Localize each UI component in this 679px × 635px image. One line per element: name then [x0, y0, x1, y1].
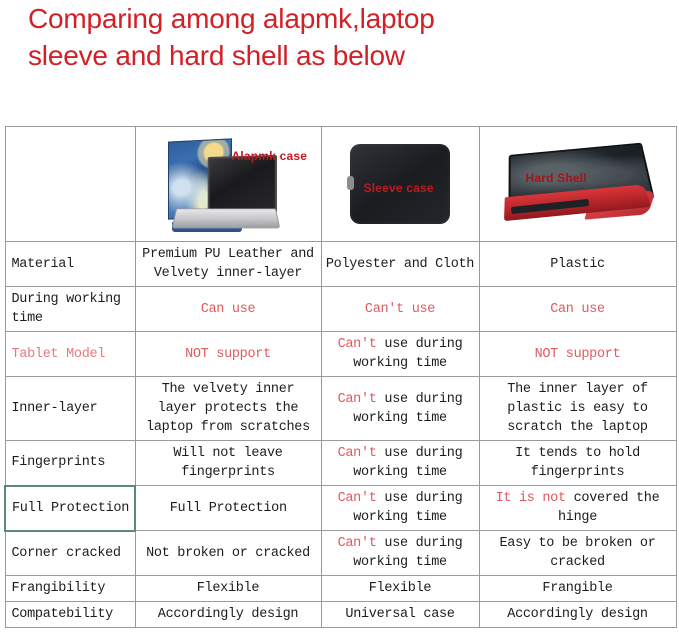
cell-r0-c0: Premium PU Leather and Velvety inner-lay…	[135, 242, 321, 287]
cell-text: Will not leave fingerprints	[173, 446, 282, 480]
table-row: MaterialPremium PU Leather and Velvety i…	[5, 242, 676, 287]
sleeve-zipper	[347, 176, 354, 190]
cell-text: The inner layer of plastic is easy to sc…	[507, 382, 647, 435]
cell-text: Accordingly design	[158, 607, 298, 622]
hard-shell-caption: Hard Shell	[526, 169, 587, 188]
alapmk-thumb	[136, 127, 321, 241]
cell-text-red-prefix: Can't	[338, 491, 377, 506]
cell-r2-c1: Can't use during working time	[321, 332, 479, 377]
cell-text: Full Protection	[170, 501, 287, 516]
cell-text: Plastic	[550, 257, 605, 272]
cell-text: Premium PU Leather and Velvety inner-lay…	[142, 247, 314, 281]
row-label-fingerprints: Fingerprints	[5, 441, 135, 486]
laptop-keyboard-base	[172, 208, 281, 228]
row-label-frangibility: Frangibility	[5, 576, 135, 602]
cell-text: Universal case	[345, 607, 454, 622]
cell-text: Polyester and Cloth	[326, 257, 474, 272]
cell-text-red: Can't use	[365, 302, 435, 317]
cell-text-rest: covered the hinge	[558, 491, 659, 525]
cell-text: Not broken or cracked	[146, 546, 310, 561]
cell-r6-c1: Can't use during working time	[321, 531, 479, 576]
table-header-row: Alapmk case Sleeve case	[5, 127, 676, 242]
cell-r0-c1: Polyester and Cloth	[321, 242, 479, 287]
row-label-material: Material	[5, 242, 135, 287]
cell-r1-c1: Can't use	[321, 287, 479, 332]
alapmk-case-image: Alapmk case	[136, 127, 321, 241]
page-title-line-1: Comparing among alapmk,laptop	[28, 0, 658, 37]
cell-r2-c0: NOT support	[135, 332, 321, 377]
cell-r0-c2: Plastic	[479, 242, 676, 287]
cell-r6-c0: Not broken or cracked	[135, 531, 321, 576]
cell-text-red-prefix: It is not	[496, 491, 566, 506]
table-row: FingerprintsWill not leave fingerprintsC…	[5, 441, 676, 486]
table-row: FrangibilityFlexibleFlexibleFrangible	[5, 576, 676, 602]
row-label-full-protection: Full Protection	[5, 486, 135, 531]
cell-r8-c1: Universal case	[321, 602, 479, 628]
header-cell-alapmk: Alapmk case	[135, 127, 321, 242]
table-row: During working timeCan useCan't useCan u…	[5, 287, 676, 332]
sleeve-case-image: Sleeve case	[322, 127, 479, 241]
row-label-during-working-time: During working time	[5, 287, 135, 332]
header-cell-hardshell: Hard Shell	[479, 127, 676, 242]
cell-text: Accordingly design	[507, 607, 647, 622]
cell-r7-c0: Flexible	[135, 576, 321, 602]
cell-r5-c0: Full Protection	[135, 486, 321, 531]
cell-r5-c2: It is not covered the hinge	[479, 486, 676, 531]
page-title: Comparing among alapmk,laptop sleeve and…	[28, 0, 658, 74]
cell-text: The velvety inner layer protects the lap…	[146, 382, 310, 435]
cell-r7-c1: Flexible	[321, 576, 479, 602]
cell-text-red: Can use	[201, 302, 256, 317]
sleeve-case-caption: Sleeve case	[364, 179, 434, 198]
comparison-table-body: Alapmk case Sleeve case	[5, 127, 676, 628]
alapmk-case-caption: Alapmk case	[232, 147, 308, 166]
cell-r4-c0: Will not leave fingerprints	[135, 441, 321, 486]
cell-text: Frangible	[542, 581, 612, 596]
row-label-compatebility: Compatebility	[5, 602, 135, 628]
cell-text: It tends to hold fingerprints	[515, 446, 640, 480]
cell-r3-c2: The inner layer of plastic is easy to sc…	[479, 377, 676, 441]
cell-text-red-prefix: Can't	[338, 337, 377, 352]
cell-text-red: NOT support	[185, 347, 271, 362]
cell-text-red-prefix: Can't	[338, 536, 377, 551]
cell-r1-c2: Can use	[479, 287, 676, 332]
row-label-tablet-model: Tablet Model	[5, 332, 135, 377]
header-cell-sleeve: Sleeve case	[321, 127, 479, 242]
row-label-corner-cracked: Corner cracked	[5, 531, 135, 576]
cell-text: Flexible	[369, 581, 431, 596]
cell-r6-c2: Easy to be broken or cracked	[479, 531, 676, 576]
cell-text: Flexible	[197, 581, 259, 596]
cell-r5-c1: Can't use during working time	[321, 486, 479, 531]
page-title-line-2: sleeve and hard shell as below	[28, 37, 658, 74]
cell-r2-c2: NOT support	[479, 332, 676, 377]
table-row: CompatebilityAccordingly designUniversal…	[5, 602, 676, 628]
cell-text-red-prefix: Can't	[338, 446, 377, 461]
cell-r7-c2: Frangible	[479, 576, 676, 602]
cell-r8-c0: Accordingly design	[135, 602, 321, 628]
cell-r3-c1: Can't use during working time	[321, 377, 479, 441]
cell-r8-c2: Accordingly design	[479, 602, 676, 628]
cell-text-red: Can use	[550, 302, 605, 317]
table-row: Corner crackedNot broken or crackedCan't…	[5, 531, 676, 576]
hard-shell-image: Hard Shell	[480, 127, 676, 241]
table-row: Tablet ModelNOT supportCan't use during …	[5, 332, 676, 377]
cell-text-red: NOT support	[535, 347, 621, 362]
comparison-table: Alapmk case Sleeve case	[4, 126, 677, 628]
row-label-inner-layer: Inner-layer	[5, 377, 135, 441]
table-row: Full ProtectionFull ProtectionCan't use …	[5, 486, 676, 531]
cell-r4-c2: It tends to hold fingerprints	[479, 441, 676, 486]
cell-text-red-prefix: Can't	[338, 392, 377, 407]
cell-r4-c1: Can't use during working time	[321, 441, 479, 486]
table-row: Inner-layerThe velvety inner layer prote…	[5, 377, 676, 441]
cell-r1-c0: Can use	[135, 287, 321, 332]
header-corner-cell	[5, 127, 135, 242]
cell-text: Easy to be broken or cracked	[499, 536, 655, 570]
cell-r3-c0: The velvety inner layer protects the lap…	[135, 377, 321, 441]
